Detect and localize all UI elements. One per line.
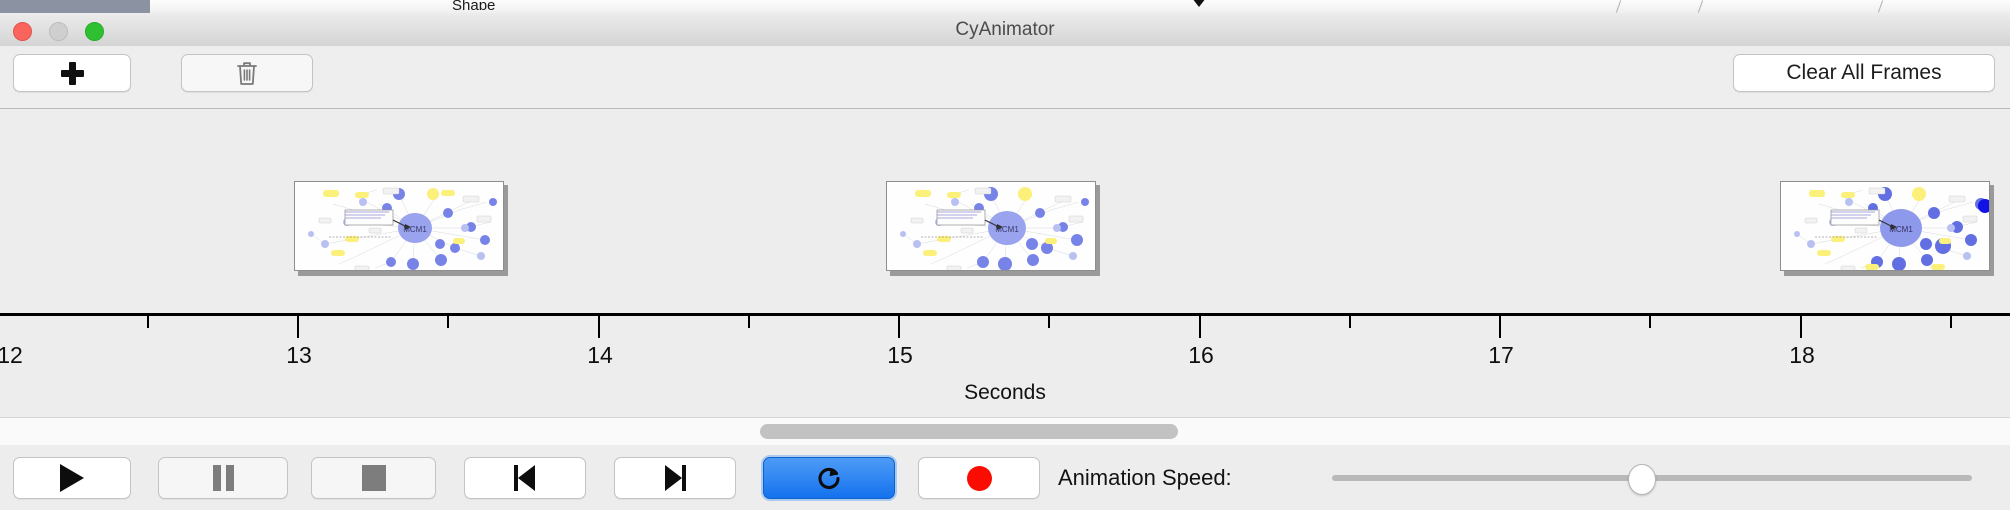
frame-thumbnail[interactable]: MCM1 [886, 181, 1096, 271]
background-tabstrip [0, 0, 2010, 13]
record-button[interactable] [918, 457, 1040, 499]
previous-frame-button[interactable] [464, 457, 586, 499]
axis-tick-label: 12 [0, 342, 40, 369]
timeline-axis: 12 13 14 15 16 17 18 Seconds [0, 313, 2010, 417]
skip-previous-icon [514, 465, 536, 491]
frame-thumbnail[interactable]: MCM1 [294, 181, 504, 271]
background-tab-segment [760, 0, 1221, 13]
frame-shadow [890, 271, 1100, 276]
network-thumbnail-image: MCM1 [887, 182, 1095, 270]
background-tab-segment [630, 0, 761, 13]
cyanimator-window: Shape CyAnimator Clear All Frames [0, 0, 2010, 510]
clear-all-frames-button[interactable]: Clear All Frames [1733, 54, 1995, 92]
delete-frame-button[interactable] [181, 54, 313, 92]
network-thumbnail-image: MCM1 [295, 182, 503, 270]
frame-shadow [1784, 271, 1994, 276]
axis-major-tick [1199, 316, 1201, 338]
axis-tick-label: 14 [570, 342, 630, 369]
scrollbar-thumb[interactable] [760, 424, 1178, 439]
axis-minor-tick [147, 316, 149, 328]
timeline-frame[interactable]: MCM1 [294, 181, 508, 271]
loop-button[interactable] [763, 457, 895, 499]
add-frame-button[interactable] [13, 54, 131, 92]
axis-title: Seconds [0, 381, 2010, 405]
timeline-panel[interactable]: MCM1 [0, 109, 2010, 417]
next-frame-button[interactable] [614, 457, 736, 499]
axis-tick-label: 18 [1772, 342, 1832, 369]
timeline-frame[interactable]: MCM1 [886, 181, 1100, 271]
axis-minor-tick [748, 316, 750, 328]
network-thumbnail-image: MCM1 [1781, 182, 1989, 270]
frame-thumbnail[interactable]: MCM1 [1780, 181, 1990, 271]
background-dark-segment [0, 0, 150, 13]
animation-speed-slider[interactable] [1332, 457, 1972, 499]
background-tab-segment [150, 0, 361, 13]
background-caret-icon [1192, 0, 1206, 7]
trash-icon [236, 60, 258, 86]
pause-icon [213, 465, 234, 491]
axis-tick-label: 16 [1171, 342, 1231, 369]
axis-tick-label: 17 [1471, 342, 1531, 369]
background-tab-segment [1700, 0, 2010, 13]
background-tab-segment [1490, 0, 1701, 13]
clear-all-frames-label: Clear All Frames [1786, 61, 1941, 85]
axis-major-tick [297, 316, 299, 338]
pause-button[interactable] [158, 457, 288, 499]
axis-minor-tick [1950, 316, 1952, 328]
background-tab-segment [570, 0, 631, 13]
axis-major-tick [1800, 316, 1802, 338]
play-icon [60, 464, 84, 492]
axis-major-tick [898, 316, 900, 338]
plus-icon [60, 61, 84, 85]
animation-speed-label: Animation Speed: [1058, 457, 1232, 499]
frame-shadow [298, 271, 508, 276]
frames-area[interactable]: MCM1 [0, 109, 2010, 313]
axis-major-tick [598, 316, 600, 338]
background-tab-segment [1220, 0, 1491, 13]
axis-line [0, 313, 2010, 316]
window-title: CyAnimator [0, 13, 2010, 46]
background-tab-segment [360, 0, 431, 13]
skip-next-icon [664, 465, 686, 491]
axis-minor-tick [1349, 316, 1351, 328]
stop-icon [362, 465, 386, 491]
background-window-label: Shape [452, 0, 495, 10]
record-icon [967, 466, 992, 491]
axis-tick-label: 15 [870, 342, 930, 369]
timeline-frame[interactable]: MCM1 [1780, 181, 1994, 271]
loop-icon [815, 464, 843, 492]
playback-control-bar: Animation Speed: [0, 445, 2010, 510]
background-tab-segment [515, 0, 571, 13]
axis-minor-tick [1649, 316, 1651, 328]
title-bar[interactable]: CyAnimator [0, 13, 2010, 47]
axis-minor-tick [447, 316, 449, 328]
slider-thumb[interactable] [1628, 464, 1656, 495]
background-window-strip: Shape [0, 0, 2010, 14]
axis-minor-tick [1048, 316, 1050, 328]
stop-button[interactable] [311, 457, 436, 499]
play-button[interactable] [13, 457, 131, 499]
axis-major-tick [1499, 316, 1501, 338]
axis-tick-label: 13 [269, 342, 329, 369]
timeline-scrollbar[interactable] [0, 417, 2010, 446]
